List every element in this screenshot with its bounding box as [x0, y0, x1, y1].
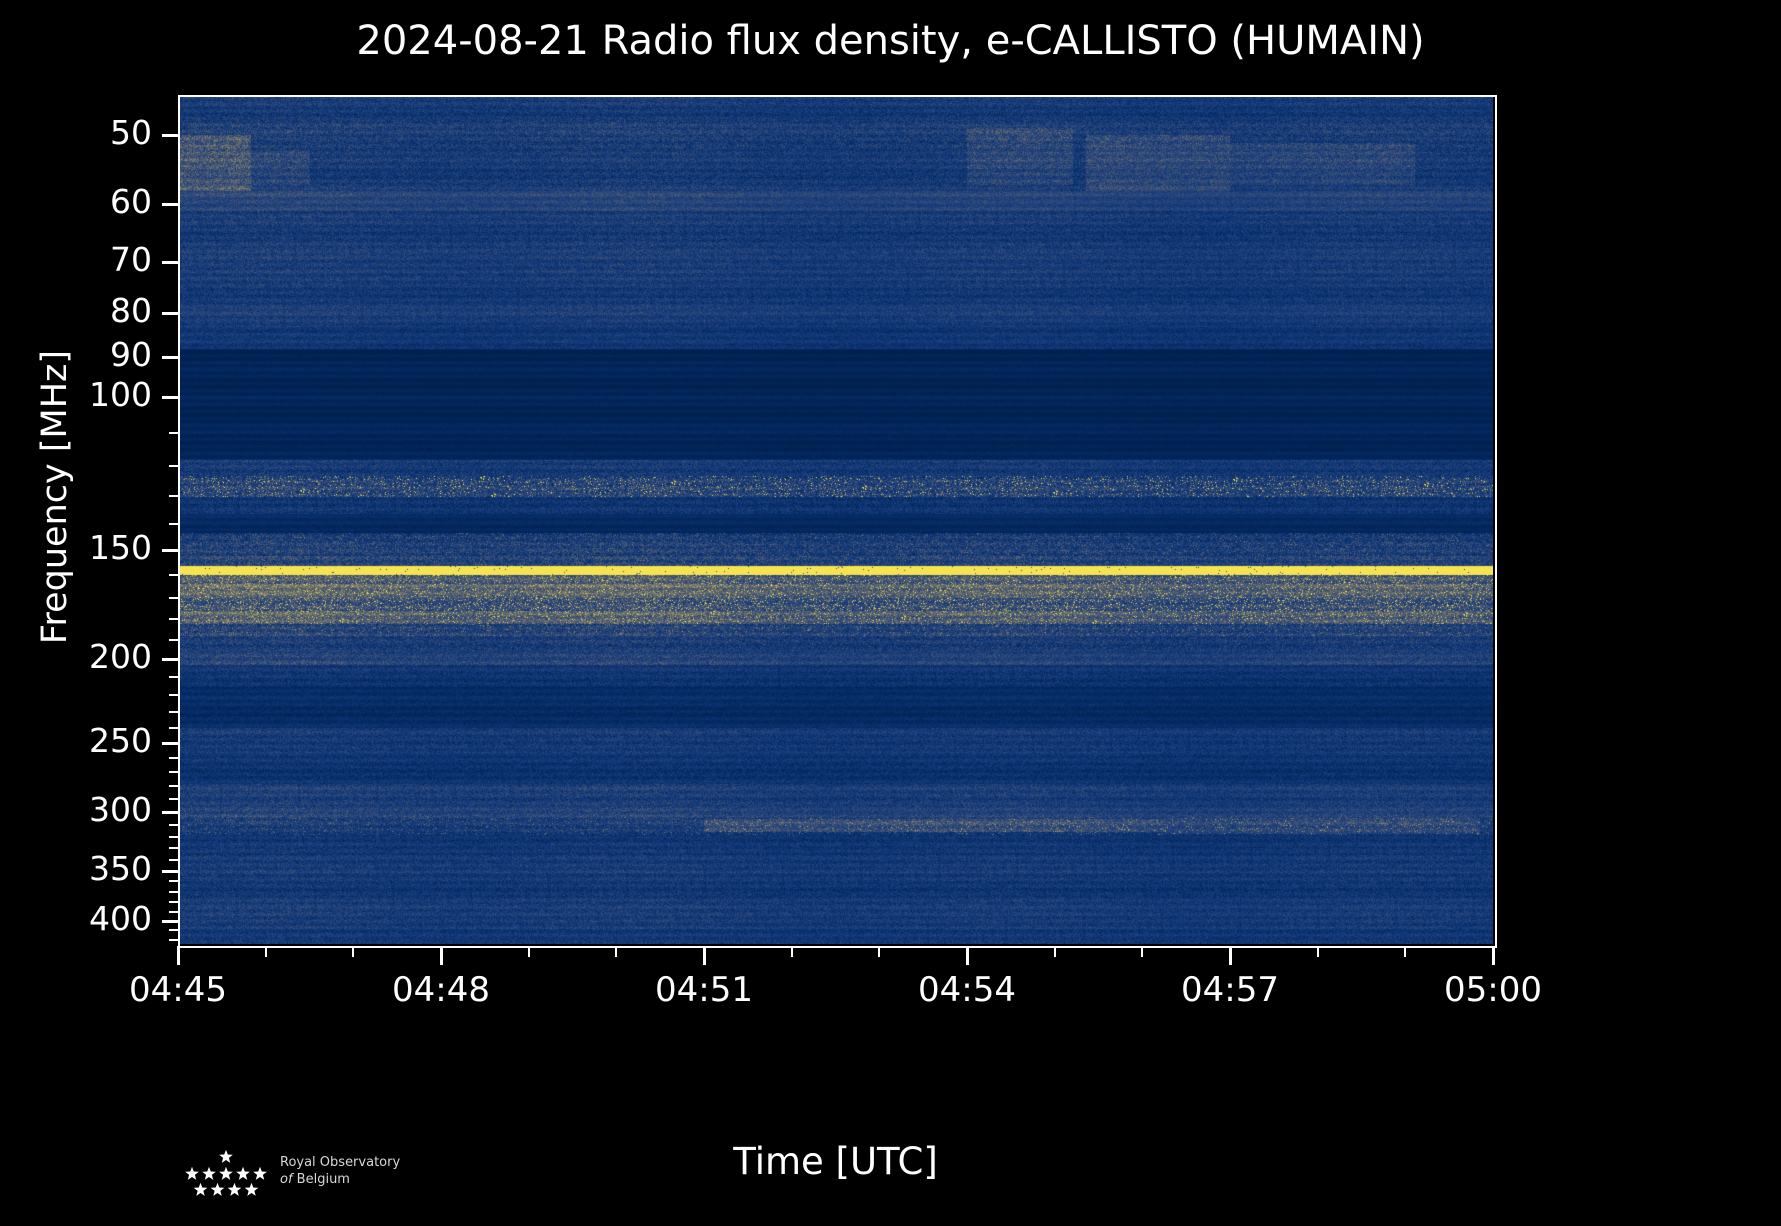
- y-tick-minor: [169, 891, 179, 893]
- x-tick-label: 04:51: [594, 970, 814, 1010]
- x-tick-minor: [615, 946, 617, 957]
- logo-of-word: of: [280, 1172, 293, 1187]
- royal-observatory-logo: Royal Observatory of Belgium: [178, 1150, 478, 1212]
- spectrogram-image: [178, 95, 1493, 944]
- y-tick-minor: [169, 911, 179, 913]
- y-tick-label: 50: [0, 113, 152, 152]
- y-tick-minor: [169, 836, 179, 838]
- x-tick-minor: [265, 946, 267, 957]
- y-tick-minor: [169, 597, 179, 599]
- logo-belgium-word: Belgium: [297, 1172, 350, 1187]
- y-tick-label: 60: [0, 182, 152, 221]
- y-tick-major: [162, 203, 179, 206]
- y-tick-major: [162, 870, 179, 873]
- y-tick-minor: [169, 824, 179, 826]
- y-tick-minor: [169, 901, 179, 903]
- star-icon: [219, 1150, 233, 1163]
- x-tick-label: 04:45: [68, 970, 288, 1010]
- y-tick-minor: [169, 574, 179, 576]
- y-tick-minor: [169, 495, 179, 497]
- x-tick-minor: [1054, 946, 1056, 957]
- y-tick-major: [162, 742, 179, 745]
- x-tick-major: [1229, 946, 1232, 965]
- y-tick-label: 200: [0, 637, 152, 676]
- y-tick-minor: [169, 618, 179, 620]
- spectrogram-plot: [178, 95, 1493, 944]
- star-icon: [253, 1167, 267, 1180]
- y-tick-minor: [169, 432, 179, 434]
- star-icon: [219, 1167, 233, 1180]
- x-tick-major: [440, 946, 443, 965]
- y-tick-minor: [169, 639, 179, 641]
- y-tick-minor: [169, 771, 179, 773]
- y-tick-minor: [169, 727, 179, 729]
- star-icon: [211, 1183, 225, 1196]
- x-tick-minor: [1141, 946, 1143, 957]
- x-tick-minor: [352, 946, 354, 957]
- x-tick-major: [966, 946, 969, 965]
- logo-line-2: of Belgium: [280, 1171, 480, 1188]
- stars-icon: [178, 1150, 274, 1198]
- logo-text: Royal Observatory of Belgium: [280, 1154, 480, 1188]
- star-icon: [228, 1183, 242, 1196]
- y-tick-major: [162, 356, 179, 359]
- x-tick-label: 05:00: [1383, 970, 1603, 1010]
- x-tick-major: [703, 946, 706, 965]
- y-tick-major: [162, 396, 179, 399]
- y-tick-major: [162, 549, 179, 552]
- y-tick-minor: [169, 929, 179, 931]
- x-tick-label: 04:48: [331, 970, 551, 1010]
- x-tick-minor: [878, 946, 880, 957]
- y-tick-major: [162, 134, 179, 137]
- y-tick-major: [162, 261, 179, 264]
- x-tick-minor: [528, 946, 530, 957]
- y-tick-label: 250: [0, 721, 152, 760]
- x-tick-minor: [1404, 946, 1406, 957]
- y-tick-minor: [169, 859, 179, 861]
- x-tick-major: [177, 946, 180, 965]
- y-tick-major: [162, 920, 179, 923]
- x-tick-minor: [1317, 946, 1319, 957]
- figure-canvas: 2024-08-21 Radio flux density, e-CALLIST…: [0, 0, 1781, 1226]
- y-tick-major: [162, 811, 179, 814]
- y-tick-minor: [169, 523, 179, 525]
- y-tick-major: [162, 658, 179, 661]
- y-tick-minor: [169, 676, 179, 678]
- y-tick-minor: [169, 694, 179, 696]
- y-tick-label: 350: [0, 849, 152, 888]
- x-tick-major: [1492, 946, 1495, 965]
- star-icon: [194, 1183, 208, 1196]
- page-title: 2024-08-21 Radio flux density, e-CALLIST…: [0, 18, 1781, 64]
- y-tick-label: 300: [0, 790, 152, 829]
- y-tick-label: 80: [0, 291, 152, 330]
- y-tick-minor: [169, 798, 179, 800]
- y-tick-minor: [169, 847, 179, 849]
- y-tick-label: 90: [0, 335, 152, 374]
- star-icon: [236, 1167, 250, 1180]
- y-tick-minor: [169, 757, 179, 759]
- y-tick-label: 400: [0, 899, 152, 938]
- x-tick-label: 04:54: [857, 970, 1077, 1010]
- y-tick-minor: [169, 785, 179, 787]
- y-tick-minor: [169, 939, 179, 941]
- y-tick-minor: [169, 880, 179, 882]
- star-icon: [185, 1167, 199, 1180]
- x-tick-label: 04:57: [1120, 970, 1340, 1010]
- x-tick-minor: [791, 946, 793, 957]
- y-tick-label: 70: [0, 240, 152, 279]
- star-icon: [245, 1183, 259, 1196]
- y-tick-label: 150: [0, 528, 152, 567]
- y-tick-minor: [169, 465, 179, 467]
- star-icon: [202, 1167, 216, 1180]
- y-tick-minor: [169, 711, 179, 713]
- logo-line-1: Royal Observatory: [280, 1154, 480, 1171]
- y-tick-label: 100: [0, 375, 152, 414]
- y-tick-major: [162, 312, 179, 315]
